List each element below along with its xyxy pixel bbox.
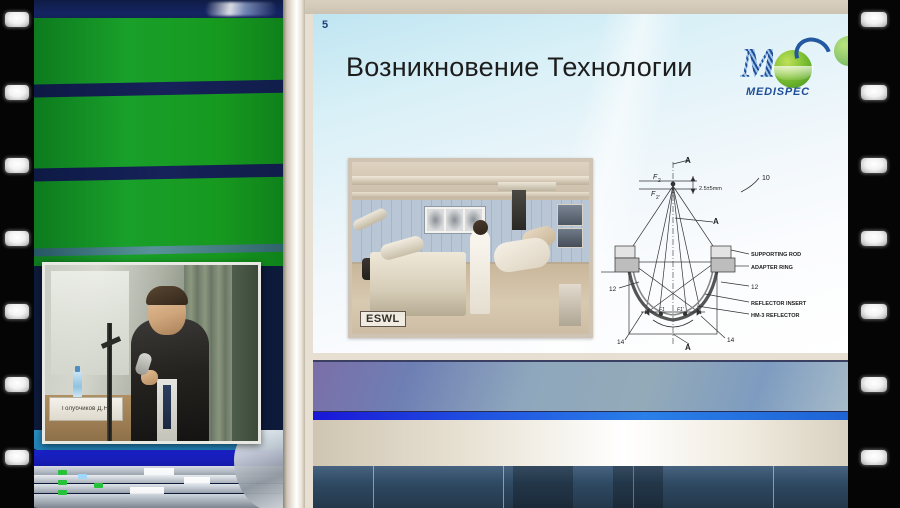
slide-number: 5 (322, 19, 328, 31)
wall-stripe (34, 163, 298, 181)
photo-equipment-cart (559, 284, 581, 326)
desk-seam (503, 466, 504, 508)
callout-ref-12: 12 (751, 284, 759, 291)
film-sprocket-hole (5, 450, 29, 465)
film-sprocket-hole (5, 12, 29, 27)
film-sprocket-hole (861, 85, 887, 100)
callout-reflector-insert: REFLECTOR INSERT (751, 301, 807, 307)
photo-xray-film (446, 209, 463, 231)
callout-adapter-ring: ADAPTER RING (751, 265, 793, 271)
curtain-shadow (232, 265, 258, 441)
film-sprocket-hole (861, 304, 887, 319)
presentation-lower-band (313, 420, 848, 468)
name-placard-text: Голубчиков Д.Н. (62, 406, 110, 412)
focus-label-f1: F1 (659, 307, 665, 313)
eswl-label: ESWL (360, 311, 406, 327)
right-ref-14: 14 (727, 337, 735, 344)
eswl-treatment-room-photo: ESWL (352, 162, 589, 334)
panel-divider (283, 0, 305, 508)
photo-gantry (512, 190, 526, 230)
photo-lithotripter (370, 252, 466, 316)
desk-seam (373, 466, 374, 508)
focus-label-f2p-sub: 2' (656, 195, 660, 201)
window-light (51, 271, 129, 375)
logo-wordmark: MEDISPEC (746, 86, 810, 98)
desk-accent-light (58, 490, 67, 495)
desk-accent-light (58, 470, 67, 475)
film-strip-left (0, 0, 34, 508)
focus-label-f1p: F1' (677, 307, 685, 313)
photo-xray-film (427, 209, 444, 231)
photo-monitor (557, 204, 583, 226)
film-strip-right (848, 0, 900, 508)
film-sprocket-hole (5, 158, 29, 173)
speaker-tie (163, 385, 171, 429)
photo-gantry-arm (498, 182, 556, 191)
photo-ceiling-beam (352, 192, 589, 198)
speaker-hair (146, 286, 188, 305)
dimension-text: 2.5±5mm (699, 186, 722, 192)
presentation-slide: 5 Возникновение Технологии M MEDISPEC (313, 14, 848, 353)
wall-stripe (34, 243, 298, 256)
left-ref-14: 14 (617, 339, 625, 346)
section-mark-a-mid: A (713, 217, 719, 226)
film-sprocket-hole (5, 231, 29, 246)
section-mark-a-bottom: A (685, 343, 691, 352)
speaker-video-inset: Голубчиков Д.Н. (42, 262, 261, 444)
desk-accent-light (58, 480, 67, 485)
green-screen-wall (34, 18, 298, 266)
wall-stripe (34, 79, 298, 97)
film-sprocket-hole (861, 158, 887, 173)
focus-label-f2-sub: 2 (658, 178, 661, 184)
film-sprocket-hole (861, 231, 887, 246)
slide-title: Возникновение Технологии (346, 52, 693, 83)
eswl-photo-frame: ESWL (348, 158, 593, 338)
presentation-top-edge (303, 0, 848, 14)
hm-3-reflector-patent-diagram: A A A F 2 F 2' 2.5±5mm 10 SUPPORTING ROD… (601, 154, 821, 353)
presentation-desk-strip (313, 466, 848, 508)
callout-supporting-rod: SUPPORTING ROD (751, 252, 801, 258)
desk-highlight (144, 468, 174, 475)
film-sprocket-hole (5, 304, 29, 319)
photo-nurse-head (473, 220, 488, 235)
water-bottle (73, 371, 82, 397)
film-sprocket-hole (861, 12, 887, 27)
film-sprocket-hole (5, 85, 29, 100)
desk-seam (773, 466, 774, 508)
photo-nurse (470, 230, 490, 314)
desk-accent-light (78, 474, 87, 479)
desk-highlight (130, 487, 164, 494)
desk-accent-light (94, 483, 103, 488)
presentation-panel: 5 Возникновение Технологии M MEDISPEC (303, 0, 848, 508)
video-frame: Голубчиков Д.Н. 5 Возникновение Технолог… (0, 0, 900, 508)
desk-shadow (513, 466, 573, 508)
callout-hm3-reflector: HM-3 REFLECTOR (751, 313, 800, 319)
studio-light-glare (206, 2, 276, 16)
left-ref-12: 12 (609, 286, 617, 293)
film-sprocket-hole (5, 377, 29, 392)
desk-shadow (613, 466, 663, 508)
film-sprocket-hole (861, 450, 887, 465)
ref-10: 10 (762, 175, 770, 182)
desk-highlight (184, 477, 210, 484)
photo-monitor (557, 228, 583, 248)
film-sprocket-hole (861, 377, 887, 392)
logo-m-mark: M (740, 40, 773, 88)
section-mark-a-top: A (685, 156, 691, 165)
